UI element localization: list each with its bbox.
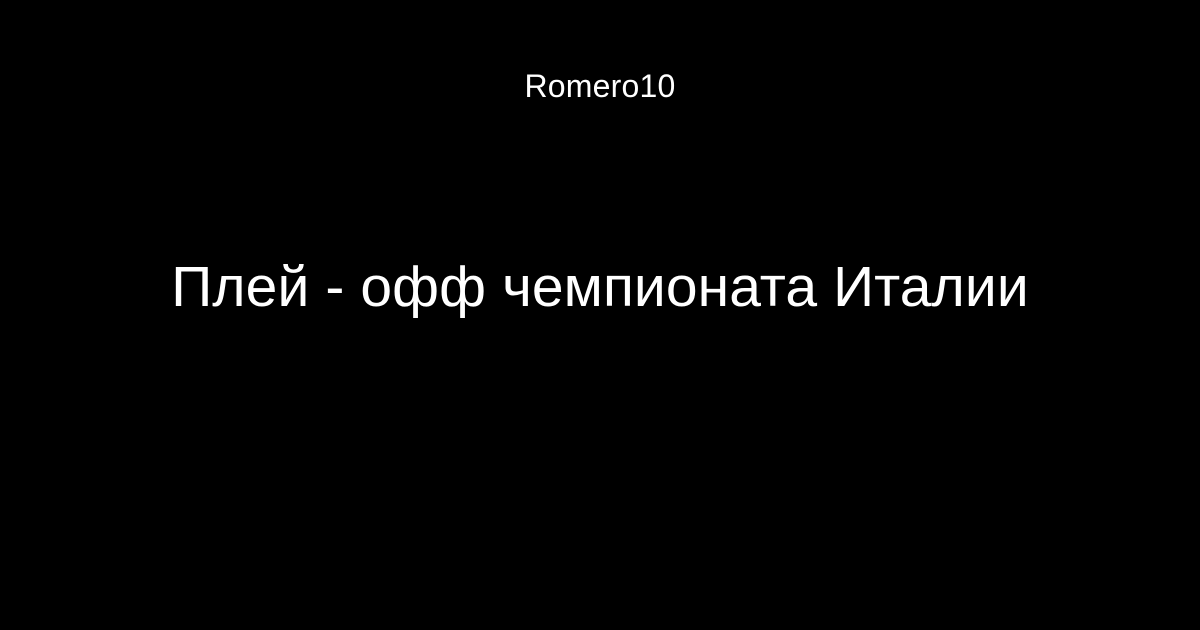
byline: Romero10 bbox=[0, 0, 1200, 110]
byline-label: Romero10 bbox=[524, 70, 675, 102]
page-title: Плей - офф чемпионата Италии bbox=[171, 256, 1029, 320]
title-card: Romero10 Плей - офф чемпионата Италии bbox=[0, 0, 1200, 630]
headline-container: Плей - офф чемпионата Италии bbox=[0, 245, 1200, 330]
